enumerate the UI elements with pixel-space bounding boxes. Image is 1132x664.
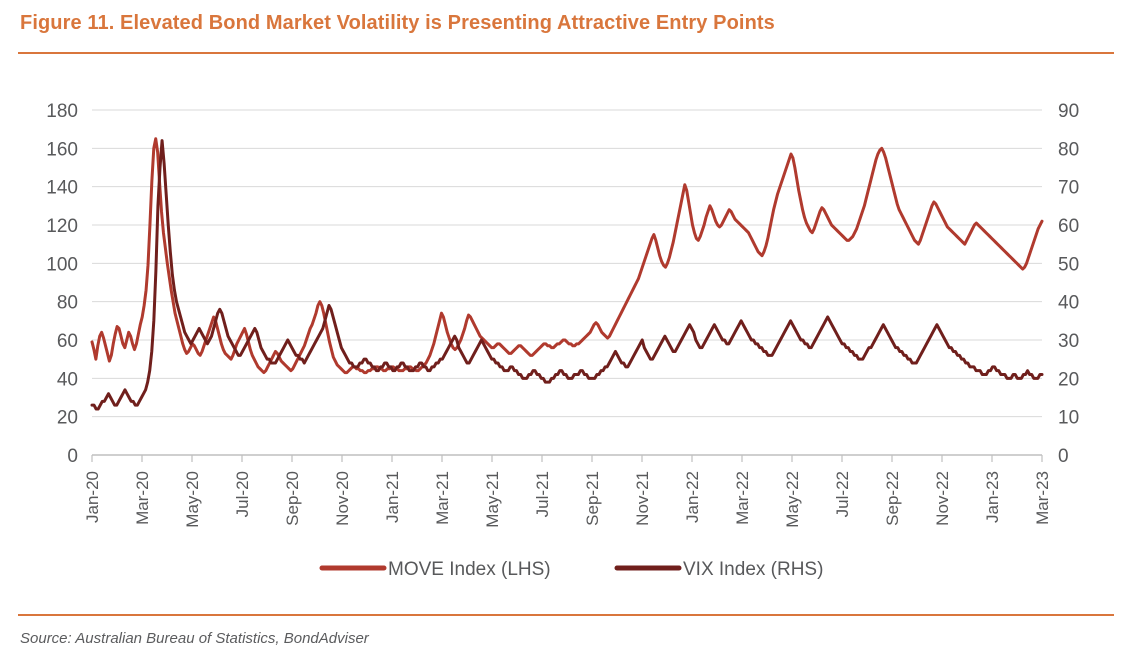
y-axis-tick-label: 80 <box>57 293 78 314</box>
y2-axis-tick-label: 0 <box>1058 446 1069 467</box>
y-axis-tick-label: 0 <box>67 446 78 467</box>
x-axis-tick-label: Nov-22 <box>933 471 952 526</box>
x-axis-tick-label: Jul-22 <box>833 471 852 517</box>
y2-axis-tick-label: 80 <box>1058 139 1079 160</box>
x-axis-tick-label: Jul-20 <box>233 471 252 517</box>
x-axis-tick-label: Sep-21 <box>583 471 602 526</box>
y-axis-tick-label: 60 <box>57 331 78 352</box>
x-axis-tick-label: May-21 <box>483 471 502 528</box>
x-axis-tick-label: Mar-22 <box>733 471 752 525</box>
y-axis-tick-label: 120 <box>46 216 78 237</box>
x-axis-tick-label: Jan-22 <box>683 471 702 523</box>
y2-axis-tick-label: 20 <box>1058 369 1079 390</box>
x-axis-tick-label: Mar-23 <box>1033 471 1052 525</box>
x-axis-tick-label: Jan-23 <box>983 471 1002 523</box>
volatility-line-chart: 0204060801001201401601800102030405060708… <box>0 62 1132 607</box>
title-divider <box>18 52 1114 54</box>
y-axis-tick-label: 160 <box>46 139 78 160</box>
x-axis-tick-label: Sep-20 <box>283 471 302 526</box>
source-divider <box>18 614 1114 616</box>
y-axis-tick-label: 140 <box>46 178 78 199</box>
x-axis-tick-label: Sep-22 <box>883 471 902 526</box>
x-axis-tick-label: Nov-20 <box>333 471 352 526</box>
y-axis-tick-label: 180 <box>46 101 78 122</box>
x-axis-tick-label: Jan-20 <box>83 471 102 523</box>
figure-container: Figure 11. Elevated Bond Market Volatili… <box>0 0 1132 664</box>
x-axis-tick-label: May-20 <box>183 471 202 528</box>
y2-axis-tick-label: 10 <box>1058 408 1079 429</box>
y2-axis-tick-label: 50 <box>1058 254 1079 275</box>
x-axis-tick-label: Nov-21 <box>633 471 652 526</box>
y2-axis-tick-label: 60 <box>1058 216 1079 237</box>
x-axis-tick-label: May-22 <box>783 471 802 528</box>
x-axis-tick-label: Jul-21 <box>533 471 552 517</box>
y2-axis-tick-label: 40 <box>1058 293 1079 314</box>
y-axis-tick-label: 40 <box>57 369 78 390</box>
y2-axis-tick-label: 90 <box>1058 101 1079 122</box>
series-line-1 <box>92 139 1042 373</box>
chart-canvas: 0204060801001201401601800102030405060708… <box>0 62 1132 607</box>
y-axis-tick-label: 20 <box>57 408 78 429</box>
y-axis-tick-label: 100 <box>46 254 78 275</box>
legend-label-1: MOVE Index (LHS) <box>388 559 551 580</box>
page-title: Figure 11. Elevated Bond Market Volatili… <box>20 12 1110 35</box>
x-axis-tick-label: Mar-20 <box>133 471 152 525</box>
y2-axis-tick-label: 70 <box>1058 178 1079 199</box>
y2-axis-tick-label: 30 <box>1058 331 1079 352</box>
x-axis-tick-label: Jan-21 <box>383 471 402 523</box>
legend-label-2: VIX Index (RHS) <box>683 559 823 580</box>
source-note: Source: Australian Bureau of Statistics,… <box>20 630 369 647</box>
series-line-2 <box>92 141 1042 409</box>
x-axis-tick-label: Mar-21 <box>433 471 452 525</box>
